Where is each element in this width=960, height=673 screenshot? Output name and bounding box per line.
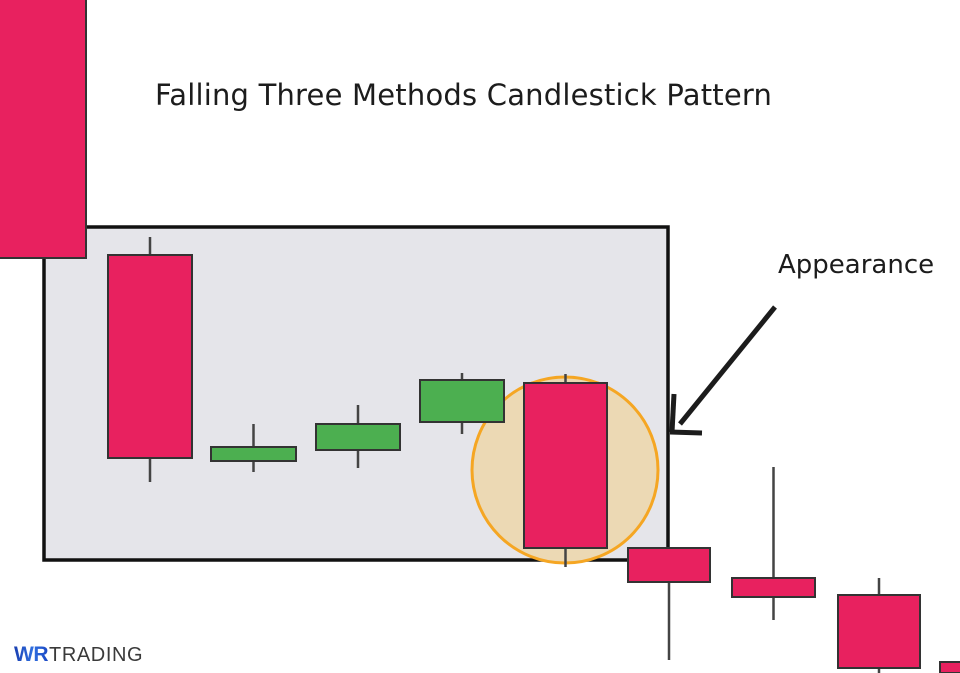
candle-7-body	[628, 548, 710, 582]
candle-9-body	[838, 595, 920, 668]
candle-1-bearish	[0, 0, 86, 258]
annotation-arrow	[670, 307, 775, 433]
candlestick-pattern-illustration: Falling Three Methods Candlestick Patter…	[0, 0, 960, 673]
arrow-head-bottom	[670, 432, 702, 433]
candle-6-body	[524, 383, 607, 548]
candle-8-bearish	[732, 467, 815, 620]
arrow-shaft	[680, 307, 775, 424]
candle-1-body	[0, 0, 86, 258]
logo-mark: WR	[14, 643, 48, 667]
candle-3-body	[211, 447, 296, 461]
candle-2-body	[108, 255, 192, 458]
logo-wordmark: TRADING	[49, 644, 143, 667]
candle-6-bearish	[524, 374, 607, 567]
candle-4-body	[316, 424, 400, 450]
annotation-label: Appearance	[778, 250, 934, 280]
brand-logo: WRTRADING	[14, 643, 143, 667]
candle-7-bearish	[628, 548, 710, 660]
candle-2-bearish	[108, 237, 192, 482]
arrow-head-left	[672, 394, 674, 432]
candle-5-body	[420, 380, 504, 422]
candle-10-bearish	[940, 662, 960, 673]
candle-10-body	[940, 662, 960, 673]
candle-8-body	[732, 578, 815, 597]
candle-9-bearish	[838, 578, 920, 673]
page-title: Falling Three Methods Candlestick Patter…	[155, 78, 772, 112]
